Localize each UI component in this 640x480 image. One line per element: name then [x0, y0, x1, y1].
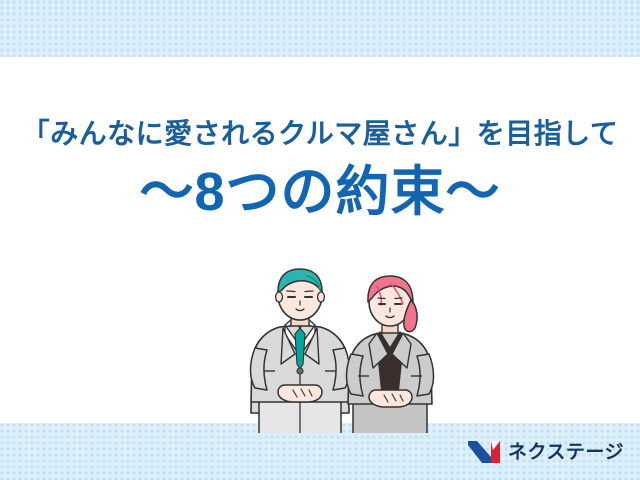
headline: 「みんなに愛されるクルマ屋さん」を目指して: [0, 118, 640, 150]
male-staff-figure: [251, 269, 350, 433]
top-dotted-band: [0, 0, 640, 57]
logo-wordmark: ネクステージ: [508, 443, 624, 462]
staff-illustration: [225, 268, 435, 433]
n-mark-icon: [467, 440, 501, 464]
banner-text-block: 「みんなに愛されるクルマ屋さん」を目指して 〜8つの約束〜: [0, 118, 640, 221]
nextage-logo: ネクステージ: [467, 440, 624, 464]
subheadline: 〜8つの約束〜: [0, 164, 640, 221]
female-staff-figure: [347, 276, 434, 433]
promotion-banner: 「みんなに愛されるクルマ屋さん」を目指して 〜8つの約束〜: [0, 0, 640, 480]
